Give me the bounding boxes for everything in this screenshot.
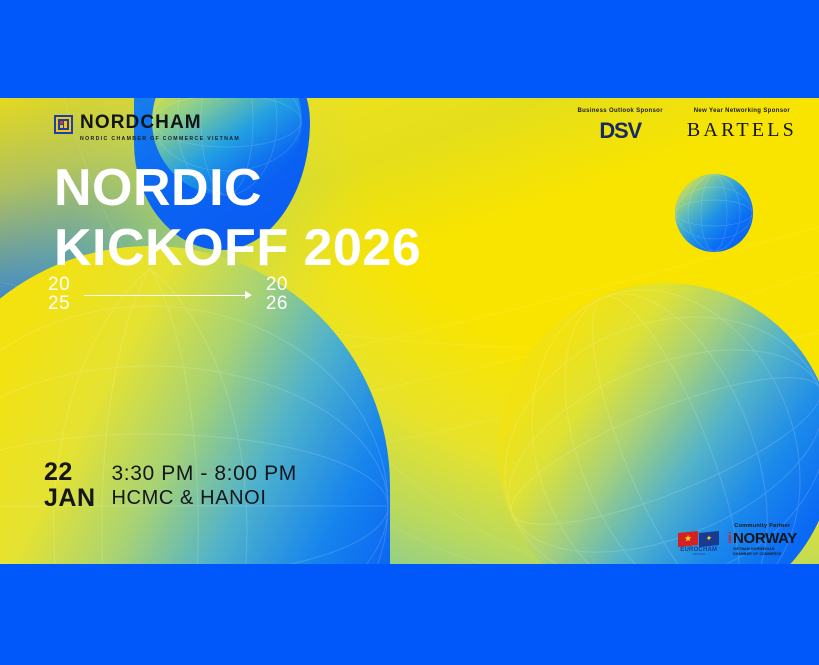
decor-sphere-large-right (498, 283, 819, 564)
year-to: 20 26 (266, 276, 288, 313)
poster-header: NORDCHAM NORDIC CHAMBER OF COMMERCE VIET… (0, 98, 819, 158)
norway-prefix: i (728, 532, 732, 546)
eu-flag-icon (699, 531, 719, 547)
arrow-right-icon (84, 288, 252, 302)
year-to-top: 20 (266, 276, 288, 295)
nordcham-name: NORDCHAM (80, 113, 240, 132)
nordcham-mark-icon (54, 115, 73, 134)
year-to-bottom: 26 (266, 295, 288, 314)
sponsor-bartels-label: New Year Networking Sponsor (687, 108, 797, 114)
event-month: JAN (44, 486, 96, 512)
poster-page: NORDCHAM NORDIC CHAMBER OF COMMERCE VIET… (0, 0, 819, 665)
year-transition: 20 25 20 26 (48, 276, 288, 313)
norway-sub-2: CHAMBER OF COMMERCE (733, 552, 797, 556)
event-title: NORDIC KICKOFF 2026 (54, 158, 421, 279)
sphere-mesh (675, 174, 753, 252)
event-day: 22 (44, 460, 96, 486)
nordcham-tagline: NORDIC CHAMBER OF COMMERCE VIETNAM (80, 136, 240, 142)
year-from-top: 20 (48, 276, 70, 295)
norway-name: NORWAY (733, 532, 797, 546)
sphere-mesh (498, 283, 819, 564)
sponsor-dsv: Business Outlook Sponsor DSV (577, 108, 662, 142)
year-from-bottom: 25 (48, 295, 70, 314)
event-date: 22 JAN (44, 460, 96, 511)
title-line-1: NORDIC (54, 158, 421, 218)
eurocham-sub: VIETNAM (693, 553, 705, 556)
norway-chamber-logo: Community Partner i NORWAY VIETNAM NORWE… (728, 523, 797, 556)
sponsor-dsv-logo: DSV (577, 120, 662, 142)
poster-canvas: NORDCHAM NORDIC CHAMBER OF COMMERCE VIET… (0, 98, 819, 564)
nordcham-logo: NORDCHAM NORDIC CHAMBER OF COMMERCE VIET… (54, 113, 240, 142)
year-from: 20 25 (48, 276, 70, 313)
event-time: 3:30 PM - 8:00 PM (112, 462, 297, 487)
event-location: HCMC & HANOI (112, 487, 297, 511)
sponsor-bartels: New Year Networking Sponsor BARTELS (687, 108, 797, 140)
community-partner-label: Community Partner (728, 523, 797, 529)
eurocham-logo: EUROCHAM VIETNAM (678, 529, 720, 556)
sponsor-group: Business Outlook Sponsor DSV New Year Ne… (577, 108, 797, 142)
sponsor-dsv-label: Business Outlook Sponsor (577, 108, 662, 114)
sponsor-bartels-logo: BARTELS (687, 120, 797, 140)
community-partner-group: EUROCHAM VIETNAM Community Partner i NOR… (678, 523, 797, 556)
event-datetime: 22 JAN 3:30 PM - 8:00 PM HCMC & HANOI (44, 460, 297, 511)
decor-sphere-small-right (675, 174, 753, 252)
title-line-2: KICKOFF 2026 (54, 218, 421, 278)
vietnam-flag-icon (678, 531, 698, 547)
eurocham-flags (678, 529, 719, 546)
